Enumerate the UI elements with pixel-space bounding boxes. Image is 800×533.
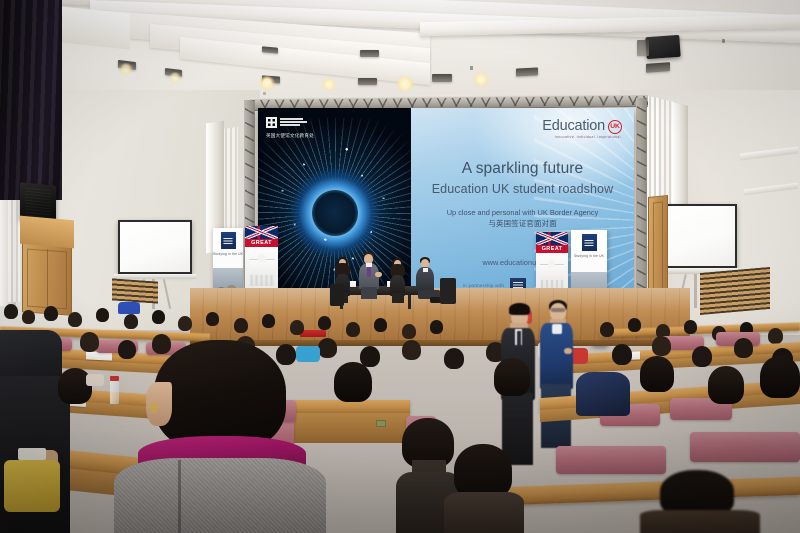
partner-label: in partnership with [463,283,504,288]
british-council-mark-icon [266,117,277,128]
crest-icon [582,234,597,251]
projector-mount [637,40,649,56]
audience-head [640,356,674,392]
slide-line3-chinese: 与英国签证官面对面 [411,218,634,229]
light-glow [169,72,181,83]
audience-head [692,346,712,367]
door-right [648,195,668,303]
rollup-heading: Studying in the UK [213,252,243,256]
audience-head [80,332,99,352]
ceiling-corner-left [60,6,130,49]
seat [690,432,800,462]
audience-head [318,338,337,358]
audience-head [68,312,82,327]
audience-head [652,336,671,356]
union-jack-icon [536,232,568,245]
seated-person-front-right [444,444,524,533]
panelist-3 [387,258,407,302]
audience-head [124,314,138,329]
org-line-2-bar [280,121,307,123]
slide-line3: Up close and personal with UK Border Age… [411,208,634,217]
audience-head [612,344,632,365]
audience-head [96,308,109,322]
paper-in-hand [18,448,46,460]
building-illustration [249,259,274,286]
british-council-logo [266,117,307,128]
audience-face [86,374,104,386]
audience-head [262,314,275,328]
great-wordmark: GREAT [536,245,568,253]
light-glow [322,78,336,91]
audience-head [402,340,421,360]
audience-dark-jacket [576,372,630,416]
recessed-light [360,50,379,57]
recessed-light [262,46,278,53]
slide-headline: A sparkling future [411,160,634,178]
grey-tweed-jacket [114,458,326,533]
audience-head [734,338,753,358]
audience-head [708,366,744,404]
audience-head [334,362,372,402]
rollup-heading: Studying in the UK [571,254,607,258]
light-glow [473,72,489,87]
stage-curtain [0,0,62,200]
audience-head [760,356,800,398]
truss-post-right [636,98,647,298]
education-uk-tagline: Innovative. Individual. Inspirational. [542,135,622,139]
seated-person-front-far-right [640,470,760,533]
bottle-cap [110,376,119,381]
light-glow [259,76,275,90]
org-line-1-bar [280,118,303,120]
audience-head [494,358,530,396]
recessed-light [358,78,377,85]
education-uk-logo: EducationUK Innovative. Individual. Insp… [542,118,622,139]
screen-surface [120,222,190,272]
screen-bottom-bar-left [114,274,196,279]
photo-scene: 英国大使馆文化教育处 EducationUK Innovative. Indiv… [0,0,800,533]
water-bottle [110,380,119,404]
audience-head [152,310,165,324]
union-jack-icon [245,226,278,239]
audience-blue-bag [118,302,140,314]
rollup-building-photo [245,247,278,293]
light-glow [119,63,133,75]
great-wordmark: GREAT [245,239,278,247]
earring [150,402,158,413]
org-line-3-bar [280,124,300,126]
light-glow [396,76,414,92]
shirt-collar [552,324,562,334]
ceiling-projector [645,35,680,59]
gesturing-hand [375,272,382,277]
glasses-icon [551,308,565,312]
slide-subhead: Education UK student roadshow [411,182,634,196]
audience-head [444,348,464,369]
panelist-2 [357,252,381,302]
recessed-light [646,62,670,73]
ceiling-fixture [722,39,725,43]
audience-head [4,304,18,319]
standing-staff-blue-sweater [540,300,574,450]
ceiling-fixture [470,66,473,70]
jacket-seam [178,460,181,533]
screen-surface [657,206,735,266]
recessed-light [432,74,452,82]
desk-plate [376,420,386,427]
foreground-woman [120,340,320,533]
yellow-bag [4,460,60,512]
crest-icon [221,232,236,249]
door-header-left [20,216,74,249]
pilaster-flute-far-left [8,182,20,302]
education-uk-wordmark: EducationUK [542,118,622,134]
hand [564,348,572,354]
audience-head [44,306,58,321]
building-illustration [540,264,564,290]
side-projection-screen-left [118,220,192,274]
org-name-chinese: 英国大使馆文化教育处 [266,133,314,139]
audience-head [206,312,219,326]
audience-head [22,310,35,324]
recessed-light [516,67,538,76]
uk-badge-icon: UK [608,120,622,134]
